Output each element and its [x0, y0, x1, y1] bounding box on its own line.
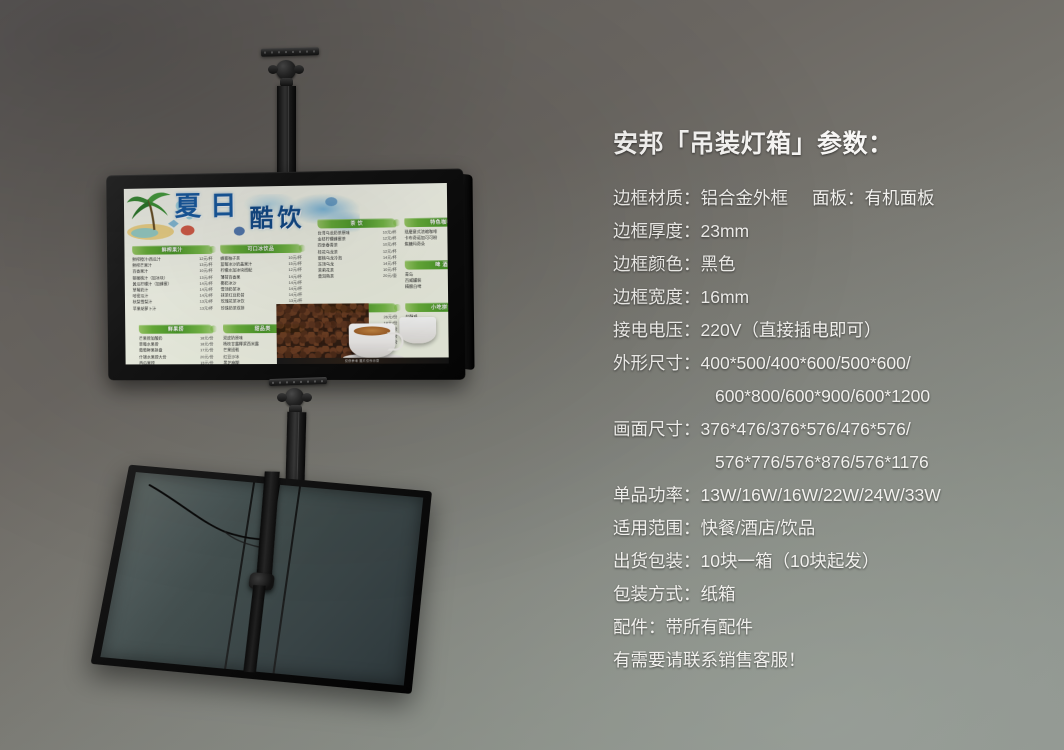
hanging-light-box-front: 夏 日 酷 饮 鲜榨果汁 鲜榨橙汁/西瓜汁12元	[106, 168, 465, 380]
coffee-cup-small	[399, 317, 436, 344]
tilt-knob-bottom-right	[302, 393, 312, 402]
spec-label: 单品功率：	[613, 479, 701, 512]
item-price: 20元/壶	[380, 273, 397, 279]
spec-label: 包装方式：	[613, 578, 701, 611]
ceiling-plate-bottom	[269, 377, 327, 386]
spec-value: 纸箱	[701, 578, 736, 611]
spec-value: 400*500/400*600/500*600/	[701, 347, 911, 380]
spec-value-panel: 有机面板	[865, 182, 935, 215]
section-header-bar: 可口冰饮品	[220, 244, 302, 254]
spec-value: 黑色	[701, 248, 736, 281]
menu-section-5: 特色咖啡 现磨意式浓缩咖啡15元/杯 卡布奇诺加可可粉18元/杯 焦糖玛奇朵20…	[404, 217, 448, 248]
title-char-3: 酷	[249, 207, 273, 231]
tilt-knob-top-right	[294, 65, 304, 74]
spec-label: 边框颜色：	[613, 248, 701, 281]
item-name: 西瓜果捞	[139, 360, 155, 364]
section-header-bar: 茶 饮	[317, 218, 396, 228]
item-name: 黑芝麻糊	[223, 360, 239, 365]
item-price: 15元/份	[197, 360, 213, 364]
ceiling-mount-bracket-top	[255, 48, 345, 178]
menu-row: 西瓜果捞15元/份	[139, 360, 213, 364]
section-header-bar: 啤 酒	[405, 260, 449, 270]
telescoping-pole-top	[277, 86, 296, 178]
title-char-1: 夏	[175, 193, 202, 220]
spec-line-shipping-pack: 出货包装： 10块一箱（10块起发）	[613, 545, 1043, 578]
spec-value: 600*800/600*900/600*1200	[715, 380, 930, 413]
item-price: 13元/杯	[197, 305, 213, 311]
ceiling-plate-top	[261, 47, 319, 57]
plate-screw-holes	[264, 50, 315, 53]
spec-value: 16mm	[701, 281, 750, 314]
spec-label: 适用范围：	[613, 512, 701, 545]
section-header-bar: 鲜果捞	[139, 324, 213, 333]
spec-label: 配件：	[613, 611, 666, 644]
menu-section-2: 鲜果捞 芒果捞加酸奶18元/份 草莓水果捞18元/份 葡萄鲜果拼盘17元/份 什…	[139, 324, 214, 364]
tilt-knob-bottom-left	[277, 393, 287, 402]
item-name: 普洱熟茶	[318, 274, 334, 280]
aluminium-frame: 夏 日 酷 饮 鲜榨果汁 鲜榨橙汁/西瓜汁12元	[106, 168, 465, 380]
spec-value: 13W/16W/16W/22W/24W/33W	[701, 479, 941, 512]
menu-section-0: 鲜榨果汁 鲜榨橙汁/西瓜汁12元/杯 鲜榨芒果汁13元/杯 百香果汁10元/杯 …	[132, 245, 213, 312]
spec-line-graphic-size-cont: 576*776/576*876/576*1176	[613, 446, 1043, 479]
spec-label: 接电电压：	[613, 314, 701, 347]
spec-line-frame-width: 边框宽度： 16mm	[613, 281, 1043, 314]
spec-label: 外形尺寸：	[613, 347, 701, 380]
spec-value: 220V（直接插电即可）	[701, 314, 882, 347]
spec-value: 快餐/酒店/饮品	[701, 512, 816, 545]
title-char-4: 饮	[277, 207, 301, 231]
coffee-cup-large	[349, 323, 396, 357]
tilt-knob-top-left	[268, 65, 278, 74]
menu-row: 普洱熟茶20元/壶	[318, 273, 397, 280]
spec-line-voltage: 接电电压： 220V（直接插电即可）	[613, 314, 1043, 347]
product-photo-canvas: 夏 日 酷 饮 鲜榨果汁 鲜榨橙汁/西瓜汁12元	[0, 0, 1064, 750]
spec-line-power: 单品功率： 13W/16W/16W/22W/24W/33W	[613, 479, 1043, 512]
section-title: 可口冰饮品	[220, 244, 302, 254]
spec-label: 出货包装：	[613, 545, 701, 578]
spec-value: 576*776/576*876/576*1176	[715, 446, 929, 479]
item-name: 焦糖玛奇朵	[405, 241, 425, 248]
section-rows: 台湾乌龙奶茶原味10元/杯 金桔柠檬蜂蜜茶12元/杯 四季春青茶10元/杯 桂花…	[318, 229, 397, 280]
spec-label: 画面尺寸：	[613, 413, 701, 446]
plate-screw-holes	[272, 380, 323, 384]
spec-line-frame-color: 边框颜色： 黑色	[613, 248, 1043, 281]
spec-line-accessories: 配件： 带所有配件	[613, 611, 1043, 644]
light-box-back-panel	[91, 465, 432, 694]
menu-section-4: 茶 饮 台湾乌龙奶茶原味10元/杯 金桔柠檬蜂蜜茶12元/杯 四季春青茶10元/…	[317, 218, 396, 280]
poster-footer-strip: 仅供参考 图片仅作示意	[277, 357, 449, 364]
menu-poster-artwork: 夏 日 酷 饮 鲜榨果汁 鲜榨橙汁/西瓜汁12元	[124, 183, 449, 364]
spec-line-outer-size: 外形尺寸： 400*500/400*600/500*600/	[613, 347, 1043, 380]
decor-blob-1	[181, 225, 195, 235]
spec-line-outer-size-cont: 600*800/600*900/600*1200	[613, 380, 1043, 413]
panel-rib-right	[273, 487, 301, 674]
section-title: 鲜果捞	[139, 324, 213, 333]
spec-value: 23mm	[701, 215, 750, 248]
item-name: 珍珠奶茶双拼	[221, 305, 245, 311]
coffee-photo: 仅供参考 图片仅作示意	[276, 284, 449, 364]
section-rows: 芒果捞加酸奶18元/份 草莓水果捞18元/份 葡萄鲜果拼盘17元/份 什锦水果捞…	[139, 335, 214, 364]
section-title: 茶 饮	[317, 218, 396, 228]
spec-text-block: 安邦「吊装灯箱」参数： 边框材质： 铝合金外框 面板： 有机面板 边框厚度： 2…	[613, 124, 1043, 677]
spec-title: 安邦「吊装灯箱」参数：	[613, 124, 1043, 160]
menu-row: 苹果胡萝卜汁13元/杯	[133, 305, 213, 312]
spec-label-panel: 面板：	[812, 182, 865, 215]
spec-line-frame-material: 边框材质： 铝合金外框 面板： 有机面板	[613, 182, 1043, 215]
spec-label: 边框厚度：	[613, 215, 701, 248]
spec-line-application: 适用范围： 快餐/酒店/饮品	[613, 512, 1043, 545]
section-header-bar: 特色咖啡	[404, 217, 448, 227]
spec-value: 带所有配件	[666, 611, 754, 644]
spec-line-graphic-size: 画面尺寸： 376*476/376*576/476*576/	[613, 413, 1043, 446]
section-rows: 现磨意式浓缩咖啡15元/杯 卡布奇诺加可可粉18元/杯 焦糖玛奇朵20元/杯	[404, 228, 448, 248]
title-char-2: 日	[210, 193, 237, 220]
spec-line-pack-method: 包装方式： 纸箱	[613, 578, 1043, 611]
section-title: 特色咖啡	[404, 217, 448, 227]
spec-value: 10块一箱（10块起发）	[701, 545, 880, 578]
spec-value: 铝合金外框	[701, 182, 789, 215]
section-header-bar: 鲜榨果汁	[132, 245, 212, 255]
pole-seam	[288, 86, 289, 178]
section-title: 啤 酒	[405, 260, 449, 270]
item-name: 苹果胡萝卜汁	[133, 306, 156, 312]
spec-label: 边框宽度：	[613, 281, 701, 314]
swivel-joint-top	[276, 60, 296, 80]
menu-display-panel: 夏 日 酷 饮 鲜榨果汁 鲜榨橙汁/西瓜汁12元	[124, 183, 449, 364]
section-rows: 鲜榨橙汁/西瓜汁12元/杯 鲜榨芒果汁13元/杯 百香果汁10元/杯 猕猴桃汁（…	[132, 256, 213, 312]
spec-line-frame-thickness: 边框厚度： 23mm	[613, 215, 1043, 248]
menu-row: 焦糖玛奇朵20元/杯	[405, 241, 449, 248]
spec-value: 376*476/376*576/476*576/	[701, 413, 911, 446]
section-title: 鲜榨果汁	[132, 245, 212, 255]
spec-closing-note: 有需要请联系销售客服！	[613, 644, 1043, 677]
spec-label: 边框材质：	[613, 182, 701, 215]
